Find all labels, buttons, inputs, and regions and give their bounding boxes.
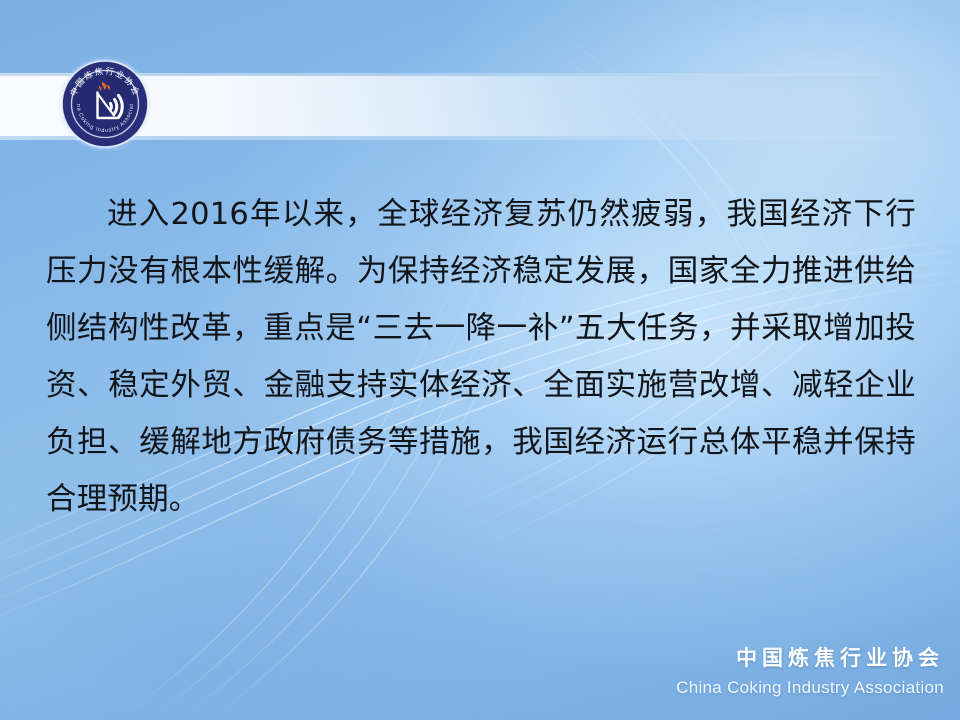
association-seal-logo: 中国炼焦行业协会 China Coking Industry Associati…	[57, 56, 153, 152]
body-paragraph: 进入2016年以来，全球经济复苏仍然疲弱，我国经济下行压力没有根本性缓解。为保持…	[46, 186, 916, 528]
brand-name-cn: 中国炼焦行业协会	[676, 642, 944, 672]
brand-name-en: China Coking Industry Association	[676, 678, 944, 698]
slide-body-text: 进入2016年以来，全球经济复苏仍然疲弱，我国经济下行压力没有根本性缓解。为保持…	[46, 186, 916, 528]
presentation-slide: 中国炼焦行业协会 China Coking Industry Associati…	[0, 0, 960, 720]
footer-brand: 中国炼焦行业协会 China Coking Industry Associati…	[676, 642, 944, 698]
